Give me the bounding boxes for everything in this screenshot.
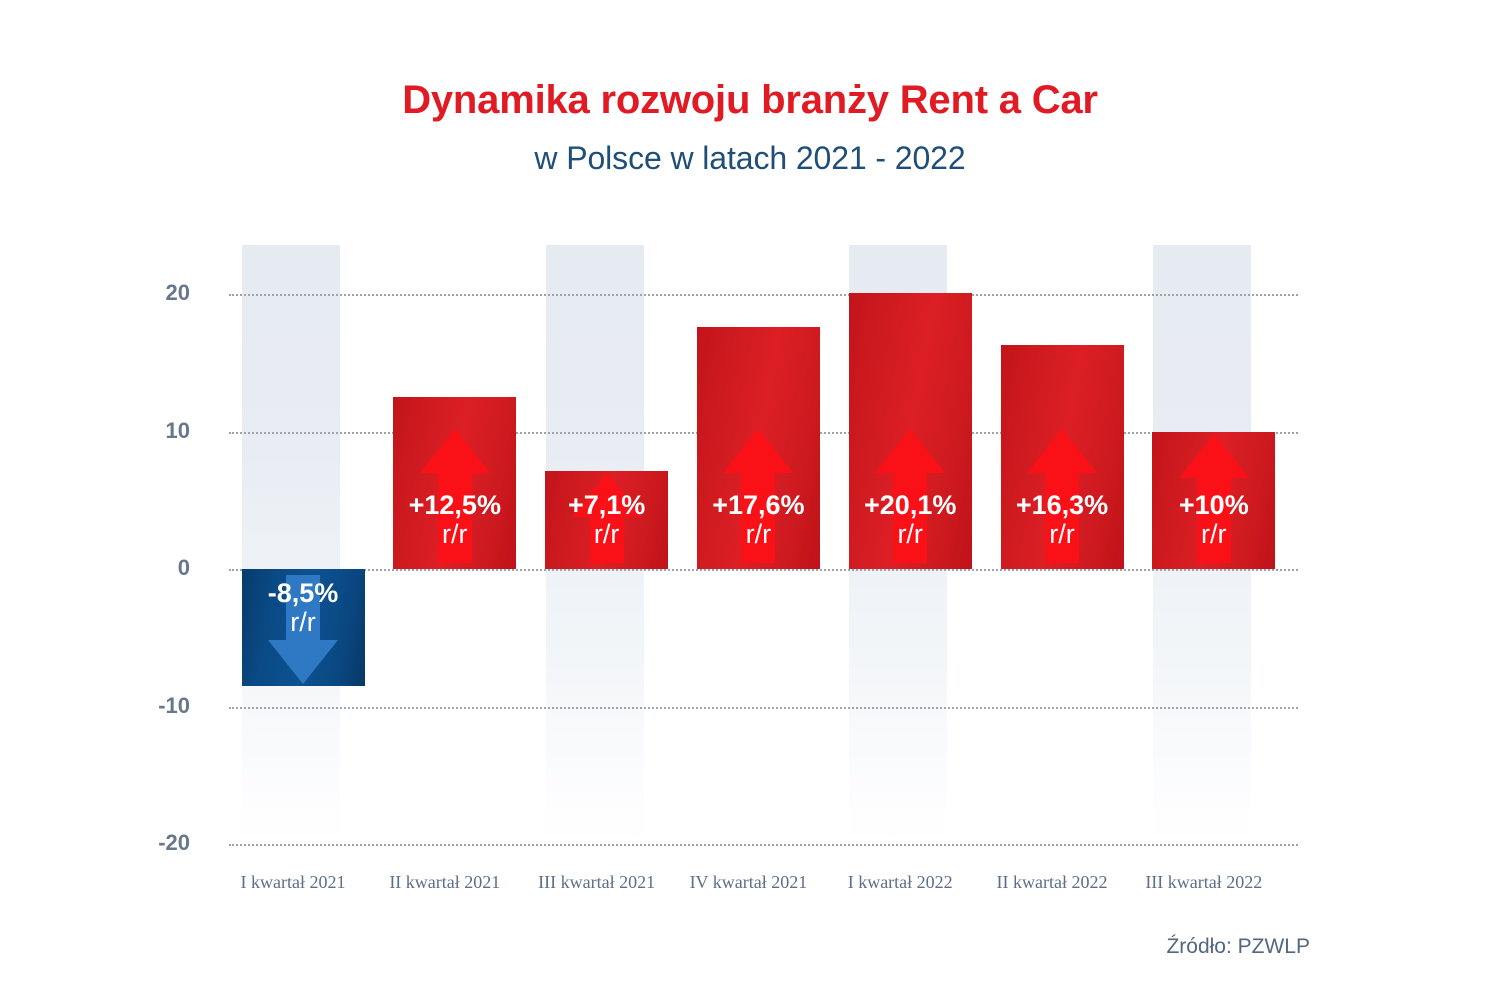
y-tick-label: 10	[70, 418, 190, 444]
x-tick-label-5: I kwartał 2022	[821, 872, 979, 893]
y-tick-label: 20	[70, 280, 190, 306]
arrow-shaft	[893, 473, 927, 563]
chart-canvas: Dynamika rozwoju branży Rent a Car w Pol…	[0, 0, 1500, 1008]
arrow-up-icon	[875, 429, 945, 563]
bar-1[interactable]	[242, 569, 365, 686]
x-tick-label-6: II kwartał 2022	[973, 872, 1131, 893]
arrow-up-icon	[1179, 434, 1249, 564]
x-tick-label-1: I kwartał 2021	[214, 872, 372, 893]
arrow-head	[723, 429, 793, 473]
arrow-head	[1179, 434, 1249, 478]
bar-7[interactable]	[1152, 432, 1275, 570]
arrow-head	[1027, 429, 1097, 473]
arrow-up-icon	[1027, 429, 1097, 563]
arrow-up-icon	[723, 429, 793, 563]
arrow-head	[875, 429, 945, 473]
x-tick-label-4: IV kwartał 2021	[669, 872, 827, 893]
arrow-up-icon	[572, 473, 642, 563]
arrow-head	[420, 429, 490, 473]
y-tick-label: -10	[70, 693, 190, 719]
arrow-up-icon	[420, 429, 490, 563]
x-tick-label-3: III kwartał 2021	[518, 872, 676, 893]
arrow-head	[268, 640, 338, 684]
arrow-shaft	[741, 473, 775, 563]
background-band	[242, 245, 340, 843]
gridline	[229, 569, 1298, 571]
gridline	[229, 844, 1298, 846]
gridline	[229, 294, 1298, 296]
arrow-shaft	[286, 575, 320, 640]
y-tick-label: 0	[70, 555, 190, 581]
y-tick-label: -20	[70, 830, 190, 856]
gridline	[229, 707, 1298, 709]
arrow-shaft	[438, 473, 472, 563]
source-note: Źródło: PZWLP	[1166, 935, 1310, 959]
arrow-down-icon	[268, 575, 338, 684]
bar-5[interactable]	[849, 293, 972, 569]
arrow-shaft	[1045, 473, 1079, 563]
bar-4[interactable]	[697, 327, 820, 569]
bar-6[interactable]	[1001, 345, 1124, 569]
x-tick-label-2: II kwartał 2021	[366, 872, 524, 893]
bar-3[interactable]	[545, 471, 668, 569]
arrow-shaft	[590, 517, 624, 563]
plot-area: -8,5%r/r+12,5%r/r+7,1%r/r+17,6%r/r+20,1%…	[235, 245, 1298, 843]
chart-subtitle: w Polsce w latach 2021 - 2022	[0, 140, 1500, 177]
bar-2[interactable]	[393, 397, 516, 569]
chart-title: Dynamika rozwoju branży Rent a Car	[0, 78, 1500, 123]
x-tick-label-7: III kwartał 2022	[1125, 872, 1283, 893]
arrow-head	[572, 473, 642, 517]
arrow-shaft	[1197, 478, 1231, 564]
